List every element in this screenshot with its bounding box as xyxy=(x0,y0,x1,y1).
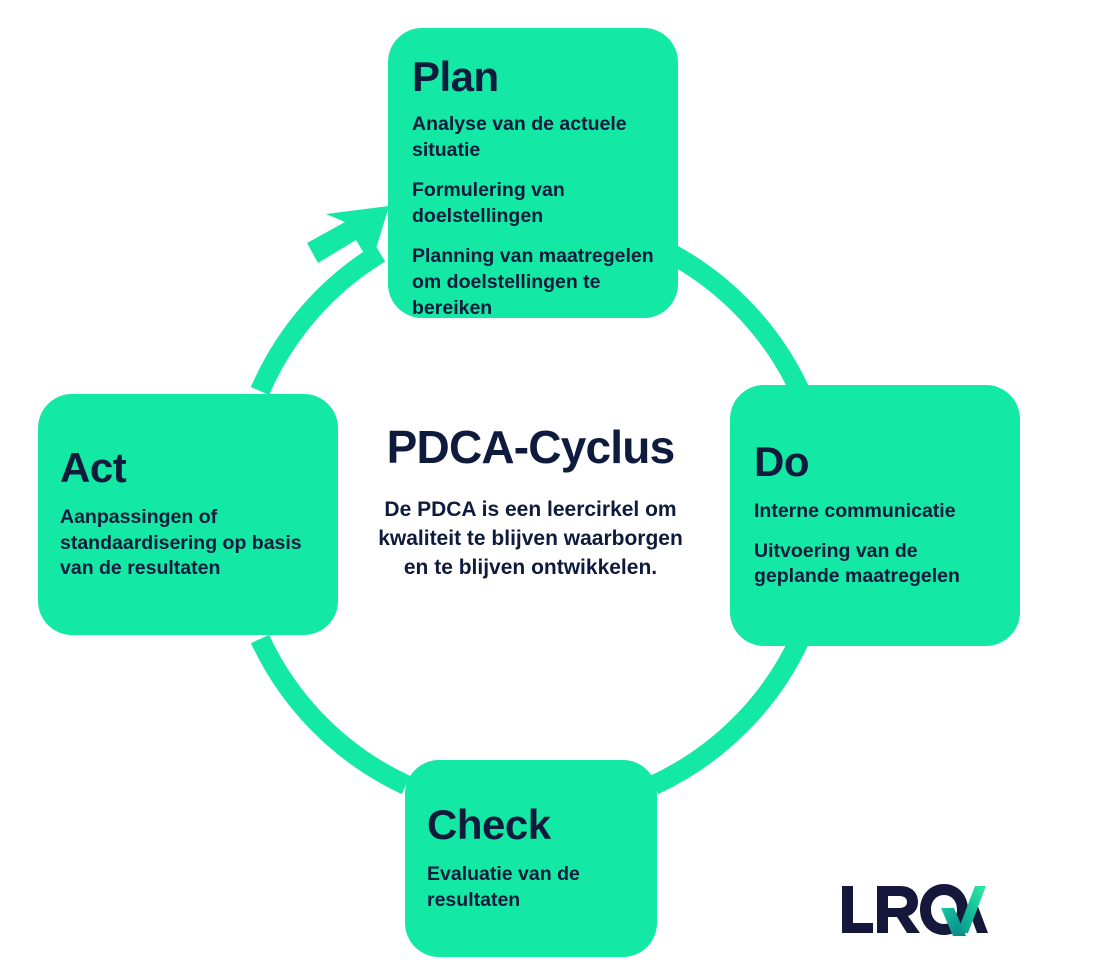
arc-act-to-plan xyxy=(260,253,380,391)
node-check-title: Check xyxy=(427,804,635,846)
logo-letter-r xyxy=(877,886,920,933)
node-check-list: Evaluatie van de resultaten xyxy=(427,862,635,914)
node-do-item: Uitvoering van de geplande maatregelen xyxy=(754,539,996,591)
node-plan-item: Analyse van de actuele situatie xyxy=(412,112,654,164)
pdca-diagram: Plan Analyse van de actuele situatie For… xyxy=(0,0,1108,977)
arc-do-to-check xyxy=(654,639,800,785)
diagram-title: PDCA-Cyclus xyxy=(338,424,723,470)
node-act-title: Act xyxy=(60,447,316,489)
node-check-item: Evaluatie van de resultaten xyxy=(427,862,635,914)
node-act-list: Aanpassingen of standaardisering op basi… xyxy=(60,505,316,583)
node-do[interactable]: Do Interne communicatie Uitvoering van d… xyxy=(730,385,1020,646)
node-do-item: Interne communicatie xyxy=(754,499,996,525)
node-do-title: Do xyxy=(754,441,996,483)
node-plan-list: Analyse van de actuele situatie Formuler… xyxy=(412,112,654,321)
node-do-list: Interne communicatie Uitvoering van de g… xyxy=(754,499,996,591)
node-plan-item: Formulering van doelstellingen xyxy=(412,178,654,230)
lrqa-logo xyxy=(842,884,988,936)
node-check[interactable]: Check Evaluatie van de resultaten xyxy=(405,760,657,957)
node-act[interactable]: Act Aanpassingen of standaardisering op … xyxy=(38,394,338,635)
arc-check-to-act xyxy=(260,639,406,785)
diagram-description: De PDCA is een leercirkel om kwaliteit t… xyxy=(338,496,723,583)
node-plan-item: Planning van maat­regelen om doel­stelli… xyxy=(412,244,654,322)
node-plan-title: Plan xyxy=(412,56,654,98)
node-act-item: Aanpassingen of standaardisering op basi… xyxy=(60,505,316,583)
node-plan[interactable]: Plan Analyse van de actuele situatie For… xyxy=(388,28,678,318)
center-block: PDCA-Cyclus De PDCA is een leercirkel om… xyxy=(338,424,723,583)
logo-letter-l xyxy=(842,886,873,933)
